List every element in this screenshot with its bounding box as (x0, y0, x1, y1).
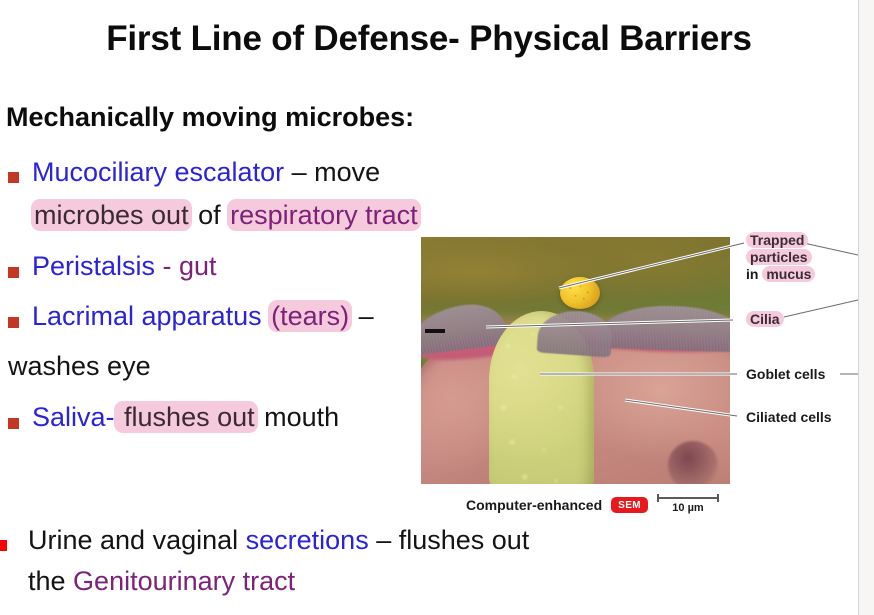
highlight-microbes-out: microbes out (31, 199, 192, 231)
figure-label-ciliated-cells: Ciliated cells (746, 409, 832, 426)
term-secretions: secretions (246, 525, 369, 555)
page-gutter (859, 0, 874, 615)
highlight-respiratory-tract: respiratory tract (227, 199, 421, 231)
scale-bar: 10 µm (657, 494, 719, 516)
bullet-item-2: Peristalsis - gut (32, 252, 217, 280)
bullet-item-5-line-2: the Genitourinary tract (28, 567, 295, 595)
section-subheading: Mechanically moving microbes: (6, 102, 414, 133)
term-genitourinary-tract: Genitourinary tract (73, 566, 295, 596)
bullet-item-5-line-1: Urine and vaginal secretions – flushes o… (28, 526, 529, 554)
bullet-marker-3 (8, 317, 19, 328)
bullet-item-3-line-1: Lacrimal apparatus (tears) – (32, 302, 374, 330)
figure-label-trapped-particles: Trapped particles in mucus (746, 232, 815, 283)
caption-text: Computer-enhanced (466, 497, 602, 513)
bullet-item-3-line-2: washes eye (8, 352, 151, 380)
term-peristalsis: Peristalsis (32, 251, 155, 281)
respiratory-epithelium-micrograph (421, 237, 730, 484)
scale-bar-cap-right (717, 494, 719, 502)
bullet-item-1-line-2: microbes out of respiratory tract (32, 201, 420, 229)
label-trapped: Trapped (746, 232, 808, 248)
bullet-marker-4 (8, 418, 19, 429)
label-particles: particles (746, 249, 812, 265)
bullet-2-gut: - gut (155, 251, 217, 281)
figure-scale-tick (425, 329, 445, 333)
slide-canvas: First Line of Defense- Physical Barriers… (0, 0, 858, 615)
bullet-5-flushes-out: – flushes out (369, 525, 530, 555)
highlight-tears: (tears) (268, 300, 352, 332)
trapped-particle-blob (560, 277, 600, 309)
bullet-marker-5 (0, 540, 7, 551)
bullet-1-dash-text: – move (284, 157, 380, 187)
figure-caption: Computer-enhanced SEM 10 µm (466, 494, 719, 516)
bullet-5-the: the (28, 566, 73, 596)
micrograph-canvas (421, 237, 730, 484)
term-mucociliary-escalator: Mucociliary escalator (32, 157, 284, 187)
bullet-item-1-line-1: Mucociliary escalator – move (32, 158, 380, 186)
label-in: in (746, 266, 762, 282)
bullet-5-urine-vaginal: Urine and vaginal (28, 525, 246, 555)
bullet-4-mouth: mouth (257, 402, 340, 432)
bullet-marker-2 (8, 267, 19, 278)
scale-bar-label: 10 µm (657, 502, 719, 514)
figure-label-cilia: Cilia (746, 311, 784, 328)
bullet-item-4: Saliva- flushes out mouth (32, 403, 339, 431)
figure-label-goblet-cells: Goblet cells (746, 366, 825, 383)
label-cilia: Cilia (746, 311, 784, 327)
bullet-marker-1 (8, 172, 19, 183)
label-mucus: mucus (762, 266, 815, 282)
sem-badge: SEM (611, 497, 648, 513)
term-lacrimal-apparatus: Lacrimal apparatus (32, 301, 262, 331)
scale-bar-line (657, 497, 719, 499)
page-title: First Line of Defense- Physical Barriers (0, 19, 858, 59)
bullet-3-dash: – (351, 301, 374, 331)
bullet-1-of: of (191, 200, 229, 230)
term-saliva: Saliva- (32, 402, 115, 432)
highlight-flushes-out: flushes out (114, 401, 258, 433)
scale-bar-cap-left (657, 494, 659, 502)
